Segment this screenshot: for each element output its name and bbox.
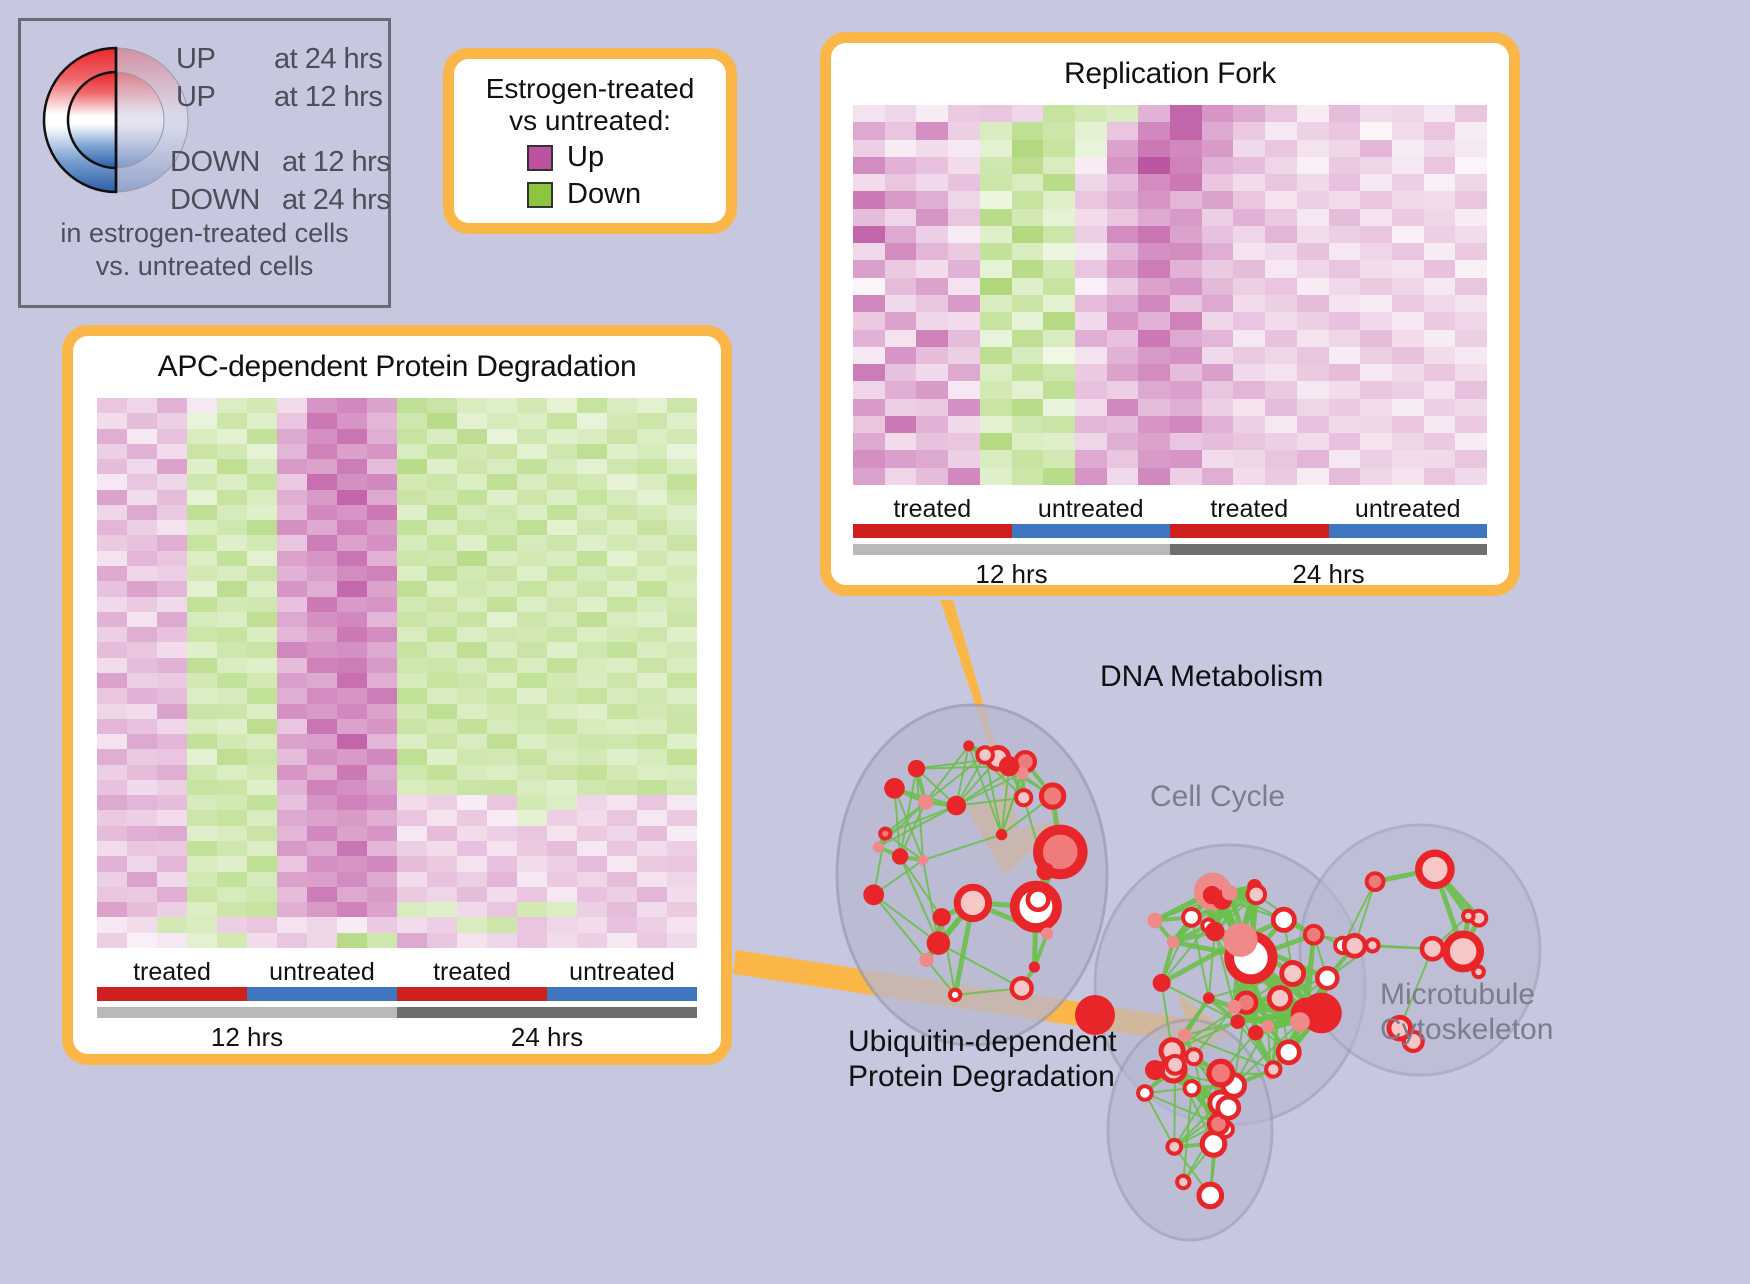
heatmap-cell [337, 505, 367, 520]
heatmap-cell [487, 887, 517, 902]
network-node[interactable] [927, 931, 951, 955]
heatmap-cell [307, 474, 337, 489]
heatmap-cell [217, 505, 247, 520]
heatmap-cell [885, 260, 917, 277]
network-node[interactable] [863, 884, 884, 905]
network-node[interactable] [1222, 885, 1238, 901]
heatmap-cell [97, 505, 127, 520]
network-node[interactable] [1178, 1029, 1192, 1043]
heatmap-cell [427, 474, 457, 489]
heatmap-cell [187, 398, 217, 413]
heatmap-cell [853, 433, 885, 450]
network-node[interactable] [1037, 863, 1055, 881]
network-node[interactable] [1199, 1184, 1222, 1207]
network-node[interactable] [1028, 889, 1048, 909]
heatmap-cell [1012, 330, 1044, 347]
heatmap-cell [217, 597, 247, 612]
heatmap-cell [1265, 416, 1297, 433]
heatmap-cell [427, 642, 457, 657]
heatmap-cell [1455, 209, 1487, 226]
up-down-legend-panel: Estrogen-treated vs untreated: Up Down [443, 48, 737, 234]
heatmap-cell [1455, 191, 1487, 208]
heatmap-cell [277, 841, 307, 856]
heatmap-cell [337, 872, 367, 887]
heatmap-cell [1138, 399, 1170, 416]
network-node[interactable] [1266, 1062, 1280, 1076]
heatmap-cell [1043, 174, 1075, 191]
network-node[interactable] [1419, 853, 1451, 885]
heatmap-cell [1424, 278, 1456, 295]
heatmap-cell [1329, 295, 1361, 312]
heatmap-cell [1012, 140, 1044, 157]
heatmap-cell [1392, 191, 1424, 208]
heatmap-cell [337, 688, 367, 703]
heatmap-cell [1360, 330, 1392, 347]
heatmap-cell [667, 749, 697, 764]
heatmap-cell [517, 734, 547, 749]
heatmap-cell [367, 704, 397, 719]
apc-time-labels: 12 hrs 24 hrs [97, 1022, 697, 1053]
heatmap-cell [127, 612, 157, 627]
heatmap-cell [427, 413, 457, 428]
heatmap-cell [667, 627, 697, 642]
heatmap-cell [517, 902, 547, 917]
heatmap-cell [457, 642, 487, 657]
heatmap-cell [457, 704, 487, 719]
heatmap-cell [337, 597, 367, 612]
network-node[interactable] [1218, 1097, 1239, 1118]
heatmap-cell [885, 174, 917, 191]
heatmap-cell [97, 597, 127, 612]
network-node[interactable] [1167, 1140, 1181, 1154]
heatmap-cell [97, 474, 127, 489]
heatmap-cell [457, 413, 487, 428]
network-node[interactable] [950, 990, 960, 1000]
heatmap-cell [187, 826, 217, 841]
heatmap-cell [127, 658, 157, 673]
heatmap-cell [577, 474, 607, 489]
replication-fork-treatment-bar [853, 524, 1487, 538]
heatmap-cell [607, 872, 637, 887]
heatmap-cell [1170, 416, 1202, 433]
heatmap-cell [367, 429, 397, 444]
heatmap-cell [247, 505, 277, 520]
heatmap-cell [1233, 295, 1265, 312]
heatmap-cell [1138, 381, 1170, 398]
heatmap-cell [1297, 416, 1329, 433]
network-node[interactable] [1269, 988, 1290, 1009]
wheel-row-3-time: at 24 hrs [282, 184, 390, 217]
heatmap-cell [337, 673, 367, 688]
heatmap-cell [1455, 260, 1487, 277]
heatmap-cell [547, 749, 577, 764]
network-node[interactable] [918, 795, 933, 810]
heatmap-cell [948, 416, 980, 433]
heatmap-cell [577, 612, 607, 627]
heatmap-cell [487, 459, 517, 474]
heatmap-cell [637, 627, 667, 642]
heatmap-cell [337, 856, 367, 871]
heatmap-cell [1265, 347, 1297, 364]
heatmap-cell [367, 535, 397, 550]
network-node[interactable] [1186, 1049, 1201, 1064]
heatmap-cell [1455, 295, 1487, 312]
heatmap-cell [1202, 191, 1234, 208]
heatmap-cell [637, 734, 667, 749]
heatmap-cell [277, 597, 307, 612]
heatmap-cell [97, 872, 127, 887]
heatmap-cell [1170, 312, 1202, 329]
heatmap-cell [1360, 364, 1392, 381]
network-node[interactable] [1273, 909, 1294, 930]
heatmap-cell [487, 566, 517, 581]
heatmap-cell [247, 887, 277, 902]
heatmap-cell [217, 826, 247, 841]
heatmap-cell [916, 260, 948, 277]
heatmap-cell [157, 474, 187, 489]
heatmap-cell [97, 902, 127, 917]
network-node[interactable] [919, 953, 933, 967]
heatmap-cell [187, 658, 217, 673]
heatmap-cell [1233, 416, 1265, 433]
heatmap-cell [457, 566, 487, 581]
network-node[interactable] [1145, 1060, 1165, 1080]
wheel-row-1-label: UP [176, 81, 215, 114]
network-node[interactable] [996, 829, 1007, 840]
heatmap-cell [427, 902, 457, 917]
network-node[interactable] [999, 756, 1019, 776]
heatmap-cell [1360, 278, 1392, 295]
heatmap-cell [367, 887, 397, 902]
heatmap-cell [1297, 295, 1329, 312]
heatmap-cell [1202, 260, 1234, 277]
heatmap-cell [980, 278, 1012, 295]
network-node[interactable] [1177, 1176, 1189, 1188]
heatmap-cell [637, 520, 667, 535]
heatmap-cell [487, 933, 517, 948]
network-node[interactable] [977, 747, 993, 763]
heatmap-cell [577, 688, 607, 703]
heatmap-cell [247, 474, 277, 489]
heatmap-cell [427, 581, 457, 596]
heatmap-cell [1138, 347, 1170, 364]
heatmap-cell [1107, 140, 1139, 157]
network-node[interactable] [1366, 939, 1378, 951]
heatmap-cell [948, 330, 980, 347]
heatmap-cell [577, 780, 607, 795]
heatmap-cell [1265, 364, 1297, 381]
heatmap-cell [487, 688, 517, 703]
heatmap-cell [667, 704, 697, 719]
network-node[interactable] [908, 760, 925, 777]
heatmap-cell [457, 535, 487, 550]
heatmap-cell [667, 581, 697, 596]
heatmap-cell [1107, 105, 1139, 122]
up-label: Up [567, 141, 653, 174]
network-node[interactable] [880, 829, 890, 839]
heatmap-cell [307, 413, 337, 428]
heatmap-cell [127, 429, 157, 444]
heatmap-cell [277, 627, 307, 642]
heatmap-cell [1329, 416, 1361, 433]
network-node[interactable] [963, 740, 974, 751]
network-node[interactable] [1138, 1086, 1152, 1100]
network-node[interactable] [957, 887, 988, 918]
heatmap-cell [948, 260, 980, 277]
heatmap-cell [980, 330, 1012, 347]
network-node[interactable] [1422, 938, 1443, 959]
heatmap-cell [607, 826, 637, 841]
heatmap-cell [1138, 416, 1170, 433]
heatmap-cell [1043, 105, 1075, 122]
heatmap-cell [1138, 450, 1170, 467]
heatmap-cell [1012, 278, 1044, 295]
heatmap-cell [367, 673, 397, 688]
heatmap-cell [607, 520, 637, 535]
heatmap-cell [97, 642, 127, 657]
network-node[interactable] [1282, 963, 1304, 985]
heatmap-cell [667, 474, 697, 489]
heatmap-cell [577, 795, 607, 810]
heatmap-cell [487, 658, 517, 673]
heatmap-cell [1360, 243, 1392, 260]
network-node[interactable] [1344, 935, 1365, 956]
network-node[interactable] [1317, 968, 1337, 988]
heatmap-cell [1202, 209, 1234, 226]
network-node[interactable] [1248, 1025, 1263, 1040]
heatmap-cell [397, 642, 427, 657]
network-node[interactable] [892, 848, 908, 864]
heatmap-cell [157, 505, 187, 520]
heatmap-cell [397, 474, 427, 489]
heatmap-cell [127, 933, 157, 948]
network-node[interactable] [1203, 886, 1221, 904]
network-node[interactable] [1202, 1133, 1225, 1156]
network-node[interactable] [1278, 1042, 1299, 1063]
heatmap-cell [1233, 157, 1265, 174]
heatmap-cell [307, 734, 337, 749]
heatmap-cell [1233, 312, 1265, 329]
heatmap-cell [1265, 399, 1297, 416]
network-node[interactable] [918, 855, 928, 865]
heatmap-cell [1297, 174, 1329, 191]
heatmap-cell [1297, 191, 1329, 208]
network-node[interactable] [1016, 790, 1031, 805]
heatmap-cell [607, 841, 637, 856]
heatmap-cell [367, 581, 397, 596]
heatmap-cell [217, 719, 247, 734]
heatmap-cell [637, 505, 667, 520]
network-node[interactable] [1209, 1061, 1233, 1085]
heatmap-cell [1202, 399, 1234, 416]
heatmap-cell [1170, 381, 1202, 398]
heatmap-cell [427, 490, 457, 505]
heatmap-cell [1297, 433, 1329, 450]
heatmap-cell [217, 734, 247, 749]
network-node[interactable] [1041, 785, 1063, 807]
heatmap-cell [307, 612, 337, 627]
heatmap-cell [1297, 122, 1329, 139]
heatmap-cell [1392, 260, 1424, 277]
treatment-segment-untreated-12 [247, 987, 397, 1001]
network-node[interactable] [1230, 1014, 1245, 1029]
heatmap-cell [980, 399, 1012, 416]
heatmap-cell [1424, 174, 1456, 191]
heatmap-cell [637, 704, 667, 719]
network-node[interactable] [1167, 936, 1180, 949]
heatmap-cell [187, 413, 217, 428]
heatmap-cell [217, 780, 247, 795]
heatmap-cell [1107, 209, 1139, 226]
heatmap-cell [577, 856, 607, 871]
heatmap-cell [427, 505, 457, 520]
heatmap-cell [637, 413, 667, 428]
heatmap-cell [1138, 157, 1170, 174]
heatmap-cell [1455, 330, 1487, 347]
heatmap-cell [157, 581, 187, 596]
heatmap-cell [980, 312, 1012, 329]
heatmap-cell [1012, 209, 1044, 226]
heatmap-cell [607, 581, 637, 596]
heatmap-cell [980, 416, 1012, 433]
cluster-label-dna-metabolism: DNA Metabolism [1100, 660, 1323, 695]
heatmap-cell [547, 413, 577, 428]
heatmap-cell [127, 413, 157, 428]
network-node[interactable] [1205, 922, 1224, 941]
heatmap-cell [217, 551, 247, 566]
heatmap-cell [1424, 243, 1456, 260]
heatmap-cell [547, 566, 577, 581]
cluster-label-ubiquitin-protein-degradation: Ubiquitin-dependent Protein Degradation [848, 1025, 1117, 1095]
heatmap-cell [487, 505, 517, 520]
heatmap-cell [457, 429, 487, 444]
heatmap-cell [1202, 295, 1234, 312]
network-node[interactable] [1227, 1000, 1241, 1014]
heatmap-cell [547, 780, 577, 795]
heatmap-cell [427, 658, 457, 673]
heatmap-cell [577, 566, 607, 581]
heatmap-cell [487, 535, 517, 550]
network-node[interactable] [1262, 1020, 1274, 1032]
heatmap-cell [427, 856, 457, 871]
treatment-segment-treated-12 [853, 524, 1012, 538]
network-node[interactable] [1153, 974, 1171, 992]
heatmap-cell [577, 673, 607, 688]
heatmap-cell [277, 673, 307, 688]
heatmap-cell [1075, 381, 1107, 398]
heatmap-cell [948, 433, 980, 450]
heatmap-cell [277, 612, 307, 627]
network-node[interactable] [873, 841, 884, 852]
network-node[interactable] [1223, 923, 1257, 957]
heatmap-cell [157, 673, 187, 688]
heatmap-cell [1202, 243, 1234, 260]
heatmap-cell [517, 505, 547, 520]
heatmap-cell [853, 450, 885, 467]
heatmap-cell [885, 243, 917, 260]
heatmap-cell [457, 474, 487, 489]
network-node[interactable] [1147, 913, 1162, 928]
network-node[interactable] [1463, 911, 1473, 921]
network-node[interactable] [1183, 909, 1200, 926]
heatmap-cell [885, 312, 917, 329]
heatmap-cell [1012, 157, 1044, 174]
heatmap-cell [577, 658, 607, 673]
heatmap-cell [1233, 174, 1265, 191]
heatmap-cell [667, 826, 697, 841]
heatmap-cell [1075, 140, 1107, 157]
heatmap-cell [1297, 381, 1329, 398]
network-node[interactable] [1290, 1012, 1310, 1032]
heatmap-cell [427, 841, 457, 856]
network-node[interactable] [947, 796, 967, 816]
heatmap-cell [980, 433, 1012, 450]
heatmap-cell [217, 398, 247, 413]
network-node[interactable] [933, 908, 951, 926]
heatmap-cell [427, 673, 457, 688]
heatmap-cell [1202, 122, 1234, 139]
heatmap-cell [217, 765, 247, 780]
network-node[interactable] [1029, 962, 1040, 973]
heatmap-cell [427, 520, 457, 535]
heatmap-cell [247, 826, 277, 841]
network-node[interactable] [1185, 1081, 1199, 1095]
heatmap-cell [187, 505, 217, 520]
heatmap-cell [637, 765, 667, 780]
heatmap-cell [853, 140, 885, 157]
network-node[interactable] [1166, 1056, 1184, 1074]
heatmap-cell [397, 612, 427, 627]
heatmap-cell [916, 243, 948, 260]
heatmap-cell [217, 413, 247, 428]
heatmap-cell [127, 597, 157, 612]
heatmap-cell [517, 856, 547, 871]
heatmap-cell [667, 597, 697, 612]
heatmap-cell [1392, 226, 1424, 243]
network-node[interactable] [1446, 934, 1480, 968]
network-node[interactable] [1041, 928, 1053, 940]
heatmap-cell [127, 642, 157, 657]
heatmap-cell [667, 429, 697, 444]
heatmap-cell [307, 581, 337, 596]
network-node[interactable] [884, 778, 905, 799]
heatmap-cell [307, 856, 337, 871]
heatmap-cell [127, 780, 157, 795]
heatmap-cell [547, 642, 577, 657]
network-node[interactable] [1305, 926, 1323, 944]
heatmap-cell [916, 105, 948, 122]
network-node[interactable] [1203, 992, 1215, 1004]
heatmap-cell [427, 734, 457, 749]
heatmap-cell [1075, 433, 1107, 450]
network-node[interactable] [1473, 967, 1484, 978]
heatmap-cell [247, 429, 277, 444]
up-color-swatch [527, 145, 553, 171]
heatmap-cell [457, 505, 487, 520]
network-node[interactable] [1367, 873, 1384, 890]
heatmap-cell [487, 795, 517, 810]
heatmap-cell [637, 887, 667, 902]
heatmap-cell [367, 597, 397, 612]
heatmap-cell [916, 347, 948, 364]
network-node[interactable] [1012, 978, 1032, 998]
heatmap-cell [577, 444, 607, 459]
heatmap-cell [277, 887, 307, 902]
heatmap-cell [187, 810, 217, 825]
heatmap-cell [187, 566, 217, 581]
heatmap-cell [277, 658, 307, 673]
network-node[interactable] [1248, 886, 1266, 904]
